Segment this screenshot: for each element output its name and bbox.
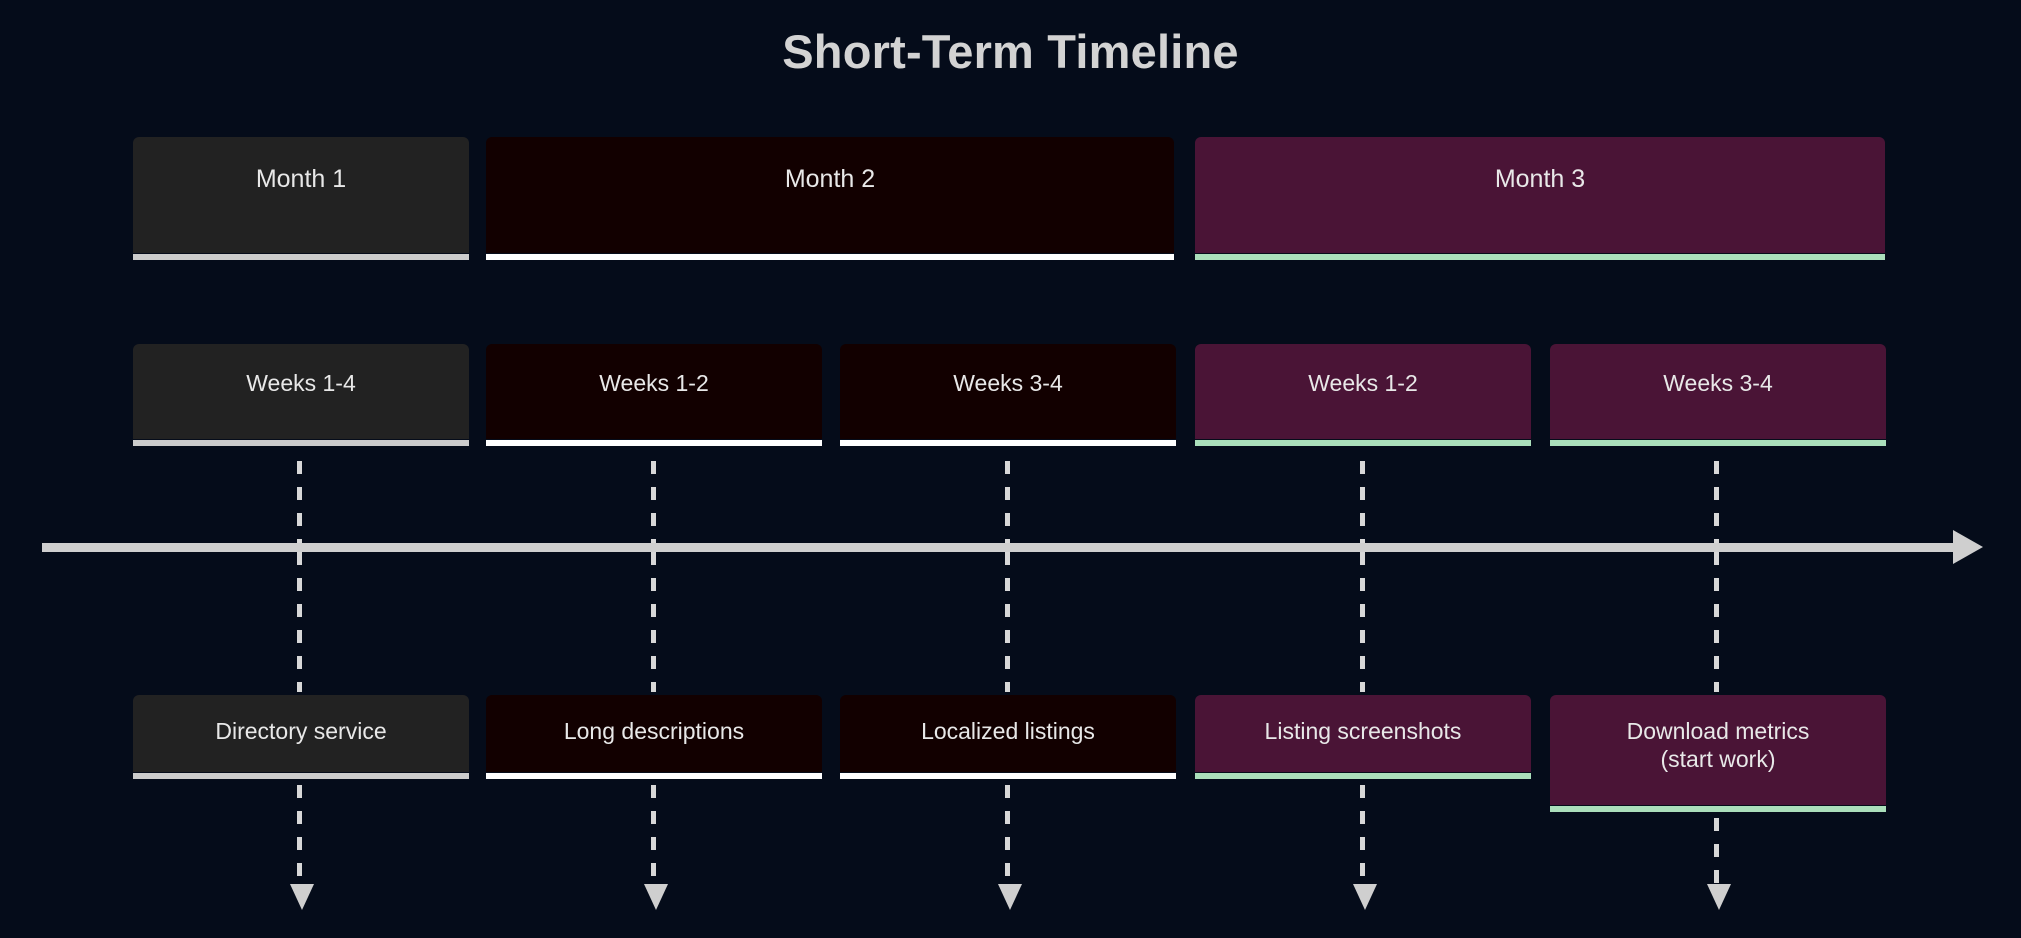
event-label: Download metrics (start work) [1550, 717, 1886, 773]
connector-week-to-axis-1 [297, 461, 302, 543]
connector-week-to-axis-5 [1714, 461, 1719, 543]
connector-week-to-axis-4 [1360, 461, 1365, 543]
timeline-axis-arrow-icon [1953, 530, 1983, 564]
connector-arrow-down-icon-1 [290, 884, 314, 910]
week-box-5[interactable]: Weeks 3-4 [1550, 344, 1886, 439]
month-box-3[interactable]: Month 3 [1195, 137, 1885, 253]
week-underline [133, 440, 469, 446]
week-box-3[interactable]: Weeks 3-4 [840, 344, 1176, 439]
week-label: Weeks 1-2 [486, 369, 822, 397]
week-underline [1550, 440, 1886, 446]
connector-axis-to-event-3 [1005, 552, 1010, 692]
month-label: Month 2 [486, 164, 1174, 195]
event-underline [486, 773, 822, 779]
week-underline [840, 440, 1176, 446]
connector-arrow-down-icon-4 [1353, 884, 1377, 910]
connector-arrow-down-icon-3 [998, 884, 1022, 910]
event-underline [133, 773, 469, 779]
week-box-4[interactable]: Weeks 1-2 [1195, 344, 1531, 439]
event-box-5[interactable]: Download metrics (start work) [1550, 695, 1886, 805]
event-box-1[interactable]: Directory service [133, 695, 469, 772]
week-box-1[interactable]: Weeks 1-4 [133, 344, 469, 439]
month-underline [486, 254, 1174, 260]
week-underline [486, 440, 822, 446]
event-underline [1550, 806, 1886, 812]
event-label: Localized listings [840, 717, 1176, 745]
event-box-3[interactable]: Localized listings [840, 695, 1176, 772]
connector-axis-to-event-2 [651, 552, 656, 692]
connector-axis-to-event-1 [297, 552, 302, 692]
connector-week-to-axis-2 [651, 461, 656, 543]
connector-event-tail-1 [297, 785, 302, 885]
timeline-axis-line [42, 543, 1967, 552]
page-title: Short-Term Timeline [0, 24, 2021, 79]
connector-axis-to-event-5 [1714, 552, 1719, 692]
event-box-4[interactable]: Listing screenshots [1195, 695, 1531, 772]
month-box-2[interactable]: Month 2 [486, 137, 1174, 253]
month-box-1[interactable]: Month 1 [133, 137, 469, 253]
week-underline [1195, 440, 1531, 446]
week-label: Weeks 3-4 [840, 369, 1176, 397]
connector-event-tail-5 [1714, 818, 1719, 885]
week-box-2[interactable]: Weeks 1-2 [486, 344, 822, 439]
month-underline [133, 254, 469, 260]
month-label: Month 1 [133, 164, 469, 195]
timeline-canvas: Short-Term Timeline Month 1 Month 2 Mont… [0, 0, 2021, 938]
event-underline [840, 773, 1176, 779]
connector-event-tail-4 [1360, 785, 1365, 885]
connector-week-to-axis-3 [1005, 461, 1010, 543]
event-label: Directory service [133, 717, 469, 745]
week-label: Weeks 1-2 [1195, 369, 1531, 397]
event-label: Long descriptions [486, 717, 822, 745]
connector-event-tail-2 [651, 785, 656, 885]
event-label: Listing screenshots [1195, 717, 1531, 745]
connector-arrow-down-icon-2 [644, 884, 668, 910]
month-label: Month 3 [1195, 164, 1885, 195]
connector-axis-to-event-4 [1360, 552, 1365, 692]
event-underline [1195, 773, 1531, 779]
connector-arrow-down-icon-5 [1707, 884, 1731, 910]
week-label: Weeks 3-4 [1550, 369, 1886, 397]
month-underline [1195, 254, 1885, 260]
week-label: Weeks 1-4 [133, 369, 469, 397]
event-box-2[interactable]: Long descriptions [486, 695, 822, 772]
connector-event-tail-3 [1005, 785, 1010, 885]
